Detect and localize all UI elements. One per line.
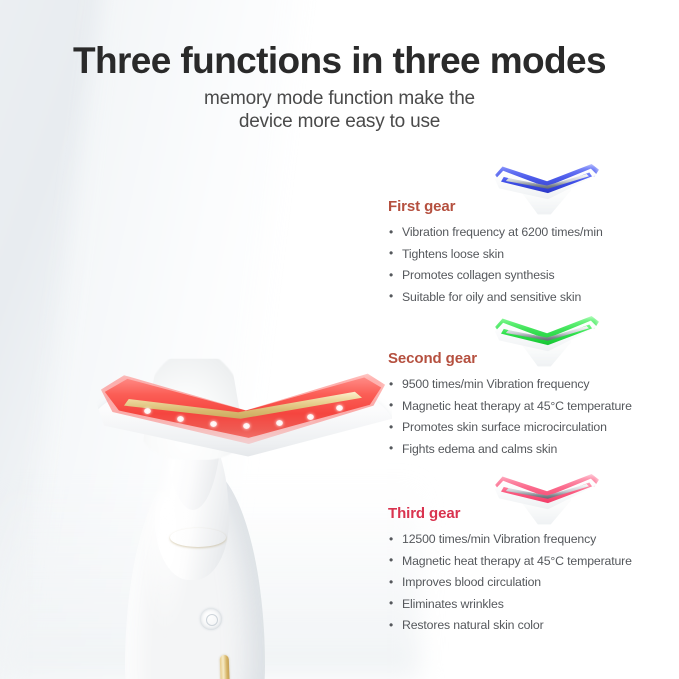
page-subtitle: memory mode function make the device mor… [0,87,679,133]
infographic-page: Three functions in three modes memory mo… [0,0,679,679]
gear-bullets-second: 9500 times/min Vibration frequencyMagnet… [388,374,668,460]
gear-bullet: Suitable for oily and sensitive skin [388,287,668,309]
product-head-assembly [92,368,392,478]
gear-bullet: Improves blood circulation [388,572,668,594]
mini-device-pink [487,470,605,528]
led-dot [177,416,184,422]
led-dot [243,423,250,429]
gear-bullet: 9500 times/min Vibration frequency [388,374,668,396]
gear-bullet: Promotes collagen synthesis [388,265,668,287]
page-title: Three functions in three modes [0,40,679,82]
led-dot [336,405,343,411]
gear-bullet: Magnetic heat therapy at 45°C temperatur… [388,551,668,573]
subtitle-line-1: memory mode function make the [0,87,679,110]
led-dot [210,421,217,427]
gear-bullet: Vibration frequency at 6200 times/min [388,222,668,244]
gear-bullets-third: 12500 times/min Vibration frequencyMagne… [388,529,668,637]
gear-bullet: Fights edema and calms skin [388,439,668,461]
gear-bullets-first: Vibration frequency at 6200 times/minTig… [388,222,668,308]
mini-device-blue [487,160,605,218]
led-dot [307,414,314,420]
gear-bullet: Promotes skin surface microcirculation [388,417,668,439]
led-dot [144,408,151,414]
gear-bullet: Eliminates wrinkles [388,594,668,616]
power-button[interactable] [200,608,222,630]
gear-bullet: Magnetic heat therapy at 45°C temperatur… [388,396,668,418]
gear-bullet: 12500 times/min Vibration frequency [388,529,668,551]
gear-bullet: Tightens loose skin [388,244,668,266]
mini-device-green [487,312,605,370]
gear-bullet: Restores natural skin color [388,615,668,637]
product-body-highlight [148,490,182,640]
led-dot [276,420,283,426]
subtitle-line-2: device more easy to use [0,110,679,133]
product-image-main [40,180,370,630]
gold-neck-ring [170,528,226,547]
